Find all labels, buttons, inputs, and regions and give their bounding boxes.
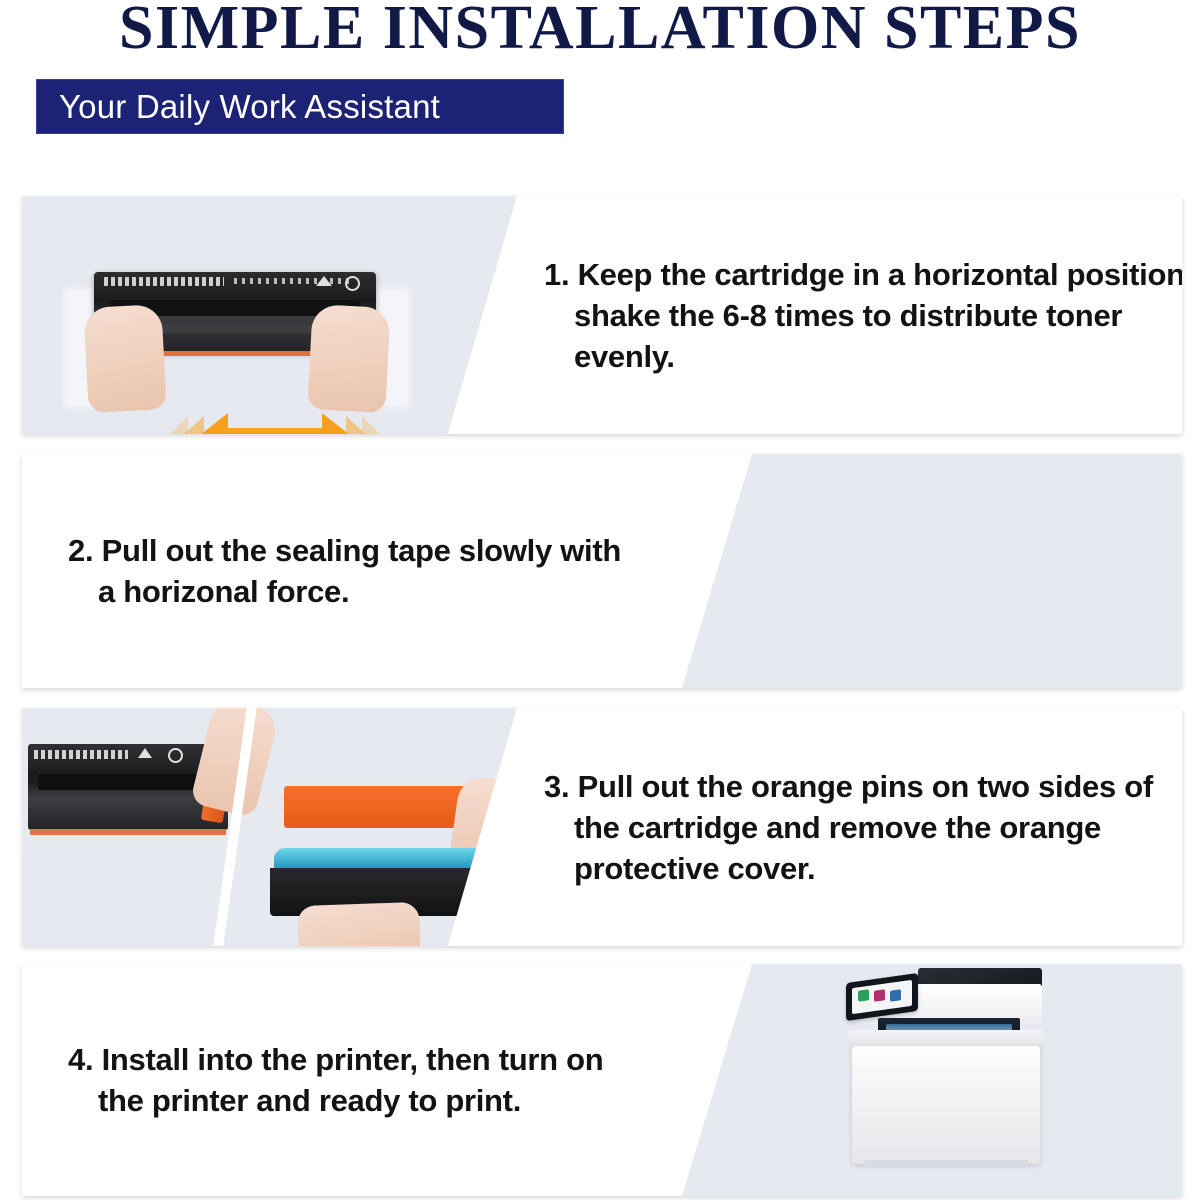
step-1-text: 1. Keep the cartridge in a horizontal po… <box>522 196 1182 434</box>
step-1-line-2: shake the 6-8 times to distribute toner <box>544 295 1182 336</box>
step-card-1: 1. Keep the cartridge in a horizontal po… <box>22 196 1182 434</box>
step-3-line-2: the cartridge and remove the orange <box>544 807 1153 848</box>
subtitle-text: Your Daily Work Assistant <box>37 88 440 126</box>
step-2-text: 2. Pull out the sealing tape slowly with… <box>22 454 722 688</box>
printer-screen-icon-magenta <box>874 989 885 1002</box>
printer-screen-icon-blue <box>890 989 901 1002</box>
step-3-image <box>22 708 517 946</box>
step-4-line-1: 4. Install into the printer, then turn o… <box>68 1039 603 1080</box>
hand-supporting-cartridge <box>297 902 421 946</box>
cartridge-shake-illustration <box>22 196 517 434</box>
hand-right <box>307 304 390 413</box>
printer-body <box>852 1046 1040 1164</box>
printer-screen-icon-green <box>858 989 869 1002</box>
double-arrow-icon <box>170 410 380 434</box>
step-2-image <box>682 454 1182 688</box>
page-header: SIMPLE INSTALLATION STEPS Your Daily Wor… <box>0 0 1200 160</box>
step-4-text: 4. Install into the printer, then turn o… <box>22 964 722 1196</box>
printer-base-shadow <box>864 1160 1028 1166</box>
step-card-2: 2. Pull out the sealing tape slowly with… <box>22 454 1182 688</box>
step-1-line-1: 1. Keep the cartridge in a horizontal po… <box>544 254 1182 295</box>
cyan-drum <box>274 848 484 870</box>
subtitle-badge: Your Daily Work Assistant <box>36 79 564 134</box>
step-2-line-2: a horizonal force. <box>68 571 621 612</box>
hand-left <box>83 304 166 413</box>
step-card-3: 3. Pull out the orange pins on two sides… <box>22 708 1182 946</box>
step-1-line-3: evenly. <box>544 336 1182 377</box>
page-title: SIMPLE INSTALLATION STEPS <box>0 0 1200 60</box>
step-4-line-2: the printer and ready to print. <box>68 1080 603 1121</box>
orange-protective-cover <box>284 786 480 828</box>
step-3-line-3: protective cover. <box>544 848 1153 889</box>
step-2-line-1: 2. Pull out the sealing tape slowly with <box>68 530 621 571</box>
step-1-image <box>22 196 517 434</box>
step-3-text: 3. Pull out the orange pins on two sides… <box>522 708 1182 946</box>
step-3-line-1: 3. Pull out the orange pins on two sides… <box>544 766 1153 807</box>
